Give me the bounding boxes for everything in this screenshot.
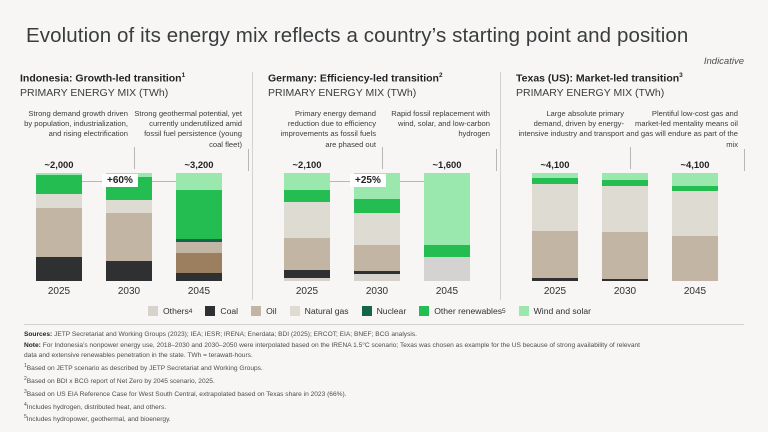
legend-label: Wind and solar — [534, 306, 591, 316]
bar-stack — [106, 173, 152, 281]
callout-right: Rapid fossil replacement with wind, sola… — [378, 109, 490, 140]
bar-stack — [602, 173, 648, 281]
bar-2025[interactable]: ~2,0002025 — [36, 173, 82, 281]
legend-swatch-icon — [419, 306, 429, 316]
bar-segment-natural-gas — [672, 191, 718, 236]
panel-title-superscript: 1 — [182, 72, 186, 79]
bar-stack — [672, 173, 718, 281]
bar-segment-oil — [532, 231, 578, 277]
bar-x-label: 2045 — [684, 286, 706, 297]
bar-segment-natural-gas — [602, 186, 648, 232]
legend-item-natural-gas[interactable]: Natural gas — [290, 306, 349, 316]
legend-swatch-icon — [205, 306, 215, 316]
bar-total-label: ~4,100 — [681, 159, 710, 170]
bar-segment-oil — [672, 236, 718, 280]
callout-left: Strong demand growth driven by populatio… — [20, 109, 128, 140]
bar-stack — [36, 173, 82, 281]
callout-connector-right — [496, 149, 497, 171]
bar-segment-other-renewables — [354, 199, 400, 213]
page-title: Evolution of its energy mix reflects a c… — [26, 24, 688, 48]
bar-segment-coal — [284, 270, 330, 278]
footnote-2-text: Based on BDI x BCG report of Net Zero by… — [27, 378, 215, 385]
panel-title-text: Germany: Efficiency-led transition — [268, 73, 439, 85]
bar-segment-wind-and-solar — [176, 173, 222, 190]
panels-container: Indonesia: Growth-led transition1PRIMARY… — [20, 72, 748, 302]
footer-sources-label: Sources: — [24, 331, 52, 338]
panel-title-text: Texas (US): Market-led transition — [516, 73, 679, 85]
bar-segment-other-renewables — [36, 175, 82, 194]
callout-left: Large absolute primary demand, driven by… — [516, 109, 624, 140]
bar-segment-coal — [36, 257, 82, 281]
footnote-3-text: Based on US EIA Reference Case for West … — [27, 391, 347, 398]
panel-chart: ~4,10020252030~4,1002045 — [516, 171, 740, 299]
panel-divider — [500, 72, 501, 300]
footer-note-line2: data and extensive renewables penetratio… — [24, 351, 750, 362]
legend-item-coal[interactable]: Coal — [205, 306, 238, 316]
bar-segment-others — [284, 278, 330, 281]
bar-segment-oil — [354, 245, 400, 271]
bar-segment-oil — [36, 208, 82, 257]
bar-total-label: ~1,600 — [433, 159, 462, 170]
legend-label: Other renewables — [434, 306, 502, 316]
bar-segment-coal — [602, 279, 648, 281]
footnote-1: 1Based on JETP scenario as described by … — [24, 362, 750, 375]
bar-stack — [532, 173, 578, 281]
callout-right: Plentiful low-cost gas and market-led me… — [626, 109, 738, 150]
bar-total-label: ~3,200 — [185, 159, 214, 170]
bar-x-label: 2030 — [118, 286, 140, 297]
bar-x-label: 2025 — [544, 286, 566, 297]
panel-divider — [252, 72, 253, 300]
footer-note-line1: Note: For Indonesia’s nonpower energy us… — [24, 341, 750, 352]
bar-x-label: 2030 — [614, 286, 636, 297]
panel-indonesia: Indonesia: Growth-led transition1PRIMARY… — [20, 72, 252, 302]
bar-stack — [176, 173, 222, 281]
legend-item-others[interactable]: Others4 — [148, 306, 192, 316]
legend-item-wind-and-solar[interactable]: Wind and solar — [519, 306, 591, 316]
bar-2025[interactable]: ~4,1002025 — [532, 173, 578, 281]
legend-label: Natural gas — [305, 306, 349, 316]
bar-group: ~2,10020252030~1,6002045 — [268, 173, 492, 281]
callout-left: Primary energy demand reduction due to e… — [268, 109, 376, 150]
bar-segment-natural-gas — [284, 202, 330, 238]
bar-stack — [354, 173, 400, 281]
footer-note-label: Note: — [24, 342, 41, 349]
bar-x-label: 2045 — [436, 286, 458, 297]
bar-x-label: 2025 — [48, 286, 70, 297]
bar-x-label: 2030 — [366, 286, 388, 297]
callout-right: Strong geothermal potential, yet current… — [130, 109, 242, 150]
bar-segment-coal — [106, 261, 152, 280]
bar-2025[interactable]: ~2,1002025 — [284, 173, 330, 281]
bar-x-label: 2025 — [296, 286, 318, 297]
legend-item-other-renewables[interactable]: Other renewables5 — [419, 306, 505, 316]
legend-superscript: 5 — [502, 308, 506, 315]
bar-segment-other-renewables — [176, 190, 222, 239]
footer-note-text1: For Indonesia’s nonpower energy use, 201… — [43, 342, 640, 349]
bar-2045[interactable]: ~4,1002045 — [672, 173, 718, 281]
bar-segment-natural-gas — [176, 242, 222, 253]
bar-segment-oil — [176, 253, 222, 274]
bar-2030[interactable]: 2030 — [354, 173, 400, 281]
bar-segment-oil — [284, 238, 330, 270]
panel-germany: Germany: Efficiency-led transition2PRIMA… — [252, 72, 500, 302]
bar-segment-coal — [532, 278, 578, 281]
callout-connector-right — [744, 149, 745, 171]
legend-swatch-icon — [519, 306, 529, 316]
legend-item-nuclear[interactable]: Nuclear — [362, 306, 407, 316]
chart-legend: Others4CoalOilNatural gasNuclearOther re… — [148, 306, 604, 316]
panel-subtitle: PRIMARY ENERGY MIX (TWh) — [268, 87, 492, 100]
infographic-page: Evolution of its energy mix reflects a c… — [0, 0, 768, 432]
bar-segment-natural-gas — [106, 200, 152, 213]
bar-group: ~4,10020252030~4,1002045 — [516, 173, 740, 281]
bar-group: ~2,00020252030~3,2002045 — [20, 173, 244, 281]
bar-segment-coal — [176, 273, 222, 281]
bar-segment-other-renewables — [424, 245, 470, 257]
panel-subtitle: PRIMARY ENERGY MIX (TWh) — [516, 87, 740, 100]
panel-texas: Texas (US): Market-led transition3PRIMAR… — [500, 72, 748, 302]
bar-2030[interactable]: 2030 — [602, 173, 648, 281]
footnote-4: 4Includes hydrogen, distributed heat, an… — [24, 401, 750, 414]
panel-title: Germany: Efficiency-led transition2 — [268, 72, 492, 86]
legend-label: Nuclear — [377, 306, 407, 316]
legend-swatch-icon — [251, 306, 261, 316]
panel-chart: +25%~2,10020252030~1,6002045 — [268, 171, 492, 299]
bar-segment-natural-gas — [354, 213, 400, 245]
bar-segment-wind-and-solar — [602, 173, 648, 181]
callout-connector-left — [630, 147, 631, 169]
legend-label: Others — [163, 306, 189, 316]
bar-segment-oil — [106, 213, 152, 262]
bar-segment-wind-and-solar — [424, 173, 470, 245]
bar-2030[interactable]: 2030 — [106, 173, 152, 281]
bar-2045[interactable]: ~1,6002045 — [424, 173, 470, 281]
bar-stack — [424, 173, 470, 281]
bar-segment-natural-gas — [532, 184, 578, 232]
legend-superscript: 4 — [189, 308, 193, 315]
bar-x-label: 2045 — [188, 286, 210, 297]
panel-chart: +60%~2,00020252030~3,2002045 — [20, 171, 244, 299]
bar-segment-wind-and-solar — [672, 173, 718, 186]
bar-segment-oil — [602, 232, 648, 278]
legend-swatch-icon — [290, 306, 300, 316]
legend-item-oil[interactable]: Oil — [251, 306, 277, 316]
footnote-5-text: Includes hydropower, geothermal, and bio… — [27, 417, 171, 424]
callout-connector-left — [382, 147, 383, 169]
legend-swatch-icon — [148, 306, 158, 316]
bar-stack — [284, 173, 330, 281]
bar-total-label: ~4,100 — [541, 159, 570, 170]
bar-segment-others — [424, 257, 470, 281]
panel-title-text: Indonesia: Growth-led transition — [20, 73, 182, 85]
change-badge: +25% — [350, 174, 386, 187]
legend-label: Oil — [266, 306, 277, 316]
panel-title: Texas (US): Market-led transition3 — [516, 72, 740, 86]
bar-total-label: ~2,000 — [45, 159, 74, 170]
bar-segment-others — [354, 274, 400, 280]
bar-segment-other-renewables — [284, 190, 330, 202]
footer-sources: Sources: JETP Secretariat and Working Gr… — [24, 330, 750, 341]
footer-sources-text: JETP Secretariat and Working Groups (202… — [54, 331, 417, 338]
change-badge: +60% — [102, 174, 138, 187]
bar-total-label: ~2,100 — [293, 159, 322, 170]
footnote-1-text: Based on JETP scenario as described by J… — [27, 365, 263, 372]
legend-label: Coal — [220, 306, 238, 316]
panel-title-superscript: 3 — [679, 72, 683, 79]
footnote-4-text: Includes hydrogen, distributed heat, and… — [27, 404, 166, 411]
legend-swatch-icon — [362, 306, 372, 316]
footnote-2: 2Based on BDI x BCG report of Net Zero b… — [24, 375, 750, 388]
footer-notes: Sources: JETP Secretariat and Working Gr… — [24, 330, 750, 426]
footnote-5: 5Includes hydropower, geothermal, and bi… — [24, 413, 750, 426]
panel-title: Indonesia: Growth-led transition1 — [20, 72, 244, 86]
footnote-3: 3Based on US EIA Reference Case for West… — [24, 388, 750, 401]
callout-connector-left — [134, 147, 135, 169]
indicative-label: Indicative — [704, 56, 744, 67]
panel-title-superscript: 2 — [439, 72, 443, 79]
bar-segment-natural-gas — [36, 194, 82, 208]
bar-segment-wind-and-solar — [284, 173, 330, 190]
bar-2045[interactable]: ~3,2002045 — [176, 173, 222, 281]
footer-divider — [24, 324, 744, 325]
callout-connector-right — [248, 149, 249, 171]
panel-subtitle: PRIMARY ENERGY MIX (TWh) — [20, 87, 244, 100]
